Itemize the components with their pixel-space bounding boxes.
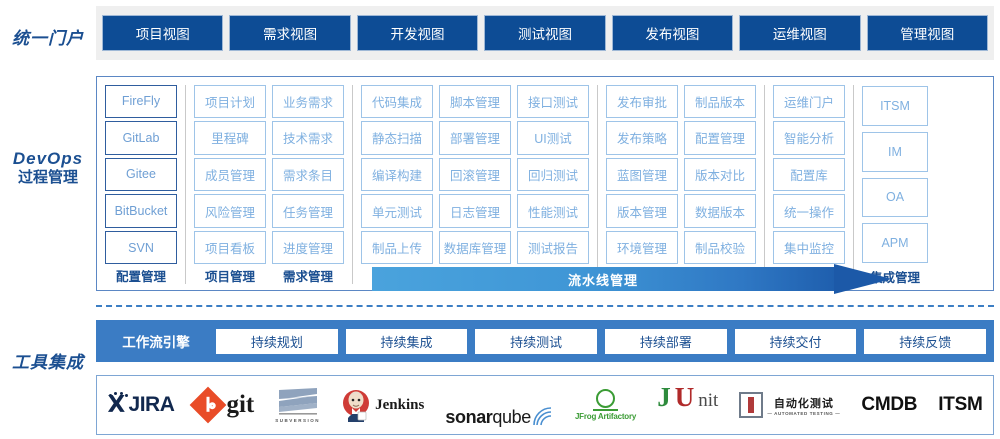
junit-letter-u: U [675, 382, 695, 413]
portal-view-button[interactable]: 发布视图 [612, 15, 733, 51]
section-divider [96, 305, 994, 307]
sonarqube-wave-icon [532, 406, 554, 426]
capability-cell[interactable]: 项目看板 [194, 231, 266, 265]
capability-cell[interactable]: SVN [105, 231, 177, 265]
column-group: ITSMIMOAAPM集成管理 [859, 83, 931, 286]
portal-view-button[interactable]: 需求视图 [229, 15, 350, 51]
capability-cell[interactable]: 项目计划 [194, 85, 266, 119]
capability-cell[interactable]: 回归测试 [517, 158, 589, 192]
jfrog-circle-icon [596, 389, 615, 408]
capability-cell[interactable]: 编译构建 [361, 158, 433, 192]
devops-process-panel: FireFlyGitLabGiteeBitBucketSVN配置管理项目计划里程… [96, 76, 994, 291]
devops-column-0: FireFlyGitLabGiteeBitBucketSVN配置管理 [102, 83, 180, 286]
portal-view-button[interactable]: 运维视图 [739, 15, 860, 51]
itsm-wordmark: ITSM [938, 394, 982, 416]
capability-cell[interactable]: 代码集成 [361, 85, 433, 119]
jenkins-wordmark: Jenkins [375, 397, 424, 414]
rail-label-tools: 工具集成 [0, 352, 96, 373]
devops-column-1: 项目计划里程碑成员管理风险管理项目看板项目管理 [191, 83, 269, 286]
logo-itsm: ITSM [938, 382, 982, 428]
workflow-stage[interactable]: 持续反馈 [864, 329, 986, 354]
pipeline-arrow: 流水线管理 [372, 267, 892, 291]
devops-column-6: 发布审批发布策略蓝图管理版本管理环境管理发布管理 [603, 83, 681, 286]
capability-cell[interactable]: 制品版本 [684, 85, 756, 119]
workflow-stage[interactable]: 持续测试 [475, 329, 597, 354]
portal-view-button[interactable]: 管理视图 [867, 15, 988, 51]
pipeline-arrow-head [834, 264, 892, 294]
column-group-divider [352, 85, 353, 284]
rail-label-tools-text: 工具集成 [12, 353, 84, 372]
rail-label-portal-text: 统一门户 [12, 29, 84, 48]
logo-sonarqube: sonar qube [445, 382, 553, 428]
capability-cell[interactable]: 单元测试 [361, 194, 433, 228]
workflow-engine-label: 工作流引擎 [104, 320, 208, 362]
devops-column-5: 接口测试UI测试回归测试性能测试测试报告CT流水线 [514, 83, 592, 286]
rail-label-devops-main: DevOps [13, 149, 83, 168]
logo-jira: Χ JIRA [108, 382, 175, 428]
capability-cell[interactable]: 日志管理 [439, 194, 511, 228]
capability-cell[interactable]: FireFly [105, 85, 177, 119]
capability-cell[interactable]: 需求条目 [272, 158, 344, 192]
capability-cell[interactable]: 部署管理 [439, 121, 511, 155]
capability-cell[interactable]: 业务需求 [272, 85, 344, 119]
capability-cell[interactable]: Gitee [105, 158, 177, 192]
capability-cell[interactable]: 蓝图管理 [606, 158, 678, 192]
capability-cell[interactable]: 制品校验 [684, 231, 756, 265]
workflow-stage[interactable]: 持续规划 [216, 329, 338, 354]
capability-cell[interactable]: 配置库 [773, 158, 845, 192]
column-group-divider [597, 85, 598, 284]
capability-cell[interactable]: GitLab [105, 121, 177, 155]
capability-cell[interactable]: 智能分析 [773, 121, 845, 155]
logo-jfrog-artifactory: JFrog Artifactory [575, 382, 636, 428]
automated-testing-icon [739, 392, 763, 418]
column-group-divider [853, 85, 854, 284]
capability-cell[interactable]: 任务管理 [272, 194, 344, 228]
tool-logo-row: Χ JIRA git SUBVERSION [96, 375, 994, 435]
jira-icon: Χ [108, 393, 128, 417]
pipeline-arrow-label: 流水线管理 [372, 267, 834, 291]
logo-jenkins: Jenkins [341, 382, 424, 428]
logo-automated-testing: 自动化测试 — AUTOMATED TESTING — [739, 382, 840, 428]
jfrog-bar-icon [593, 409, 618, 411]
cmdb-wordmark: CMDB [861, 394, 917, 416]
git-icon [190, 387, 227, 424]
capability-cell[interactable]: 发布策略 [606, 121, 678, 155]
devops-column-8: 运维门户智能分析配置库统一操作集中监控运维管理 [770, 83, 848, 286]
column-group: 发布审批发布策略蓝图管理版本管理环境管理发布管理制品版本配置管理版本对比数据版本… [603, 83, 759, 286]
workflow-stage[interactable]: 持续集成 [346, 329, 468, 354]
jfrog-wordmark: JFrog Artifactory [575, 412, 636, 421]
rail-label-devops: DevOps 过程管理 [0, 148, 96, 188]
portal-view-button[interactable]: 项目视图 [102, 15, 223, 51]
junit-letters-nit: nit [698, 390, 718, 412]
rail-label-portal: 统一门户 [0, 28, 96, 49]
jenkins-butler-icon [341, 388, 371, 422]
capability-cell[interactable]: 成员管理 [194, 158, 266, 192]
capability-cell[interactable]: BitBucket [105, 194, 177, 228]
automated-testing-en: — AUTOMATED TESTING — [767, 411, 840, 416]
capability-cell[interactable]: 性能测试 [517, 194, 589, 228]
capability-cell[interactable]: 技术需求 [272, 121, 344, 155]
capability-cell[interactable]: 数据版本 [684, 194, 756, 228]
capability-cell[interactable]: 制品上传 [361, 231, 433, 265]
capability-cell[interactable]: IM [862, 132, 928, 172]
capability-cell[interactable]: UI测试 [517, 121, 589, 155]
capability-cell[interactable]: ITSM [862, 86, 928, 126]
capability-cell[interactable]: 里程碑 [194, 121, 266, 155]
column-group: 项目计划里程碑成员管理风险管理项目看板项目管理业务需求技术需求需求条目任务管理进… [191, 83, 347, 286]
column-group: 运维门户智能分析配置库统一操作集中监控运维管理 [770, 83, 848, 286]
jira-wordmark: JIRA [129, 393, 175, 417]
capability-cell[interactable]: OA [862, 178, 928, 218]
devops-column-4: 脚本管理部署管理回滚管理日志管理数据库管理CD流水线 [436, 83, 514, 286]
portal-view-button[interactable]: 开发视图 [357, 15, 478, 51]
capability-cell[interactable]: 环境管理 [606, 231, 678, 265]
capability-cell[interactable]: 测试报告 [517, 231, 589, 265]
capability-cell[interactable]: 发布审批 [606, 85, 678, 119]
devops-column-3: 代码集成静态扫描编译构建单元测试制品上传CI流水线 [358, 83, 436, 286]
capability-cell[interactable]: 统一操作 [773, 194, 845, 228]
git-wordmark: git [226, 391, 254, 419]
devops-column-title: 需求管理 [272, 266, 344, 286]
devops-column-2: 业务需求技术需求需求条目任务管理进度管理需求管理 [269, 83, 347, 286]
capability-cell[interactable]: 配置管理 [684, 121, 756, 155]
capability-cell[interactable]: 静态扫描 [361, 121, 433, 155]
workflow-stage[interactable]: 持续交付 [735, 329, 857, 354]
sonarqube-wordmark-light: qube [492, 407, 530, 428]
workflow-stage-list: 持续规划持续集成持续测试持续部署持续交付持续反馈 [216, 329, 986, 354]
logo-junit: J U nit [657, 382, 718, 428]
portal-view-button[interactable]: 测试视图 [484, 15, 605, 51]
capability-cell[interactable]: 运维门户 [773, 85, 845, 119]
logo-subversion: SUBVERSION [275, 382, 320, 428]
capability-cell[interactable]: 进度管理 [272, 231, 344, 265]
capability-cell[interactable]: 接口测试 [517, 85, 589, 119]
subversion-wordmark: SUBVERSION [275, 418, 320, 423]
capability-cell[interactable]: 回滚管理 [439, 158, 511, 192]
devops-column-title: 配置管理 [105, 266, 177, 286]
capability-cell[interactable]: APM [862, 223, 928, 263]
workflow-engine-bar: 工作流引擎 持续规划持续集成持续测试持续部署持续交付持续反馈 [96, 320, 994, 362]
capability-cell[interactable]: 脚本管理 [439, 85, 511, 119]
devops-column-title: 项目管理 [194, 266, 266, 286]
logo-git: git [195, 382, 254, 428]
workflow-stage[interactable]: 持续部署 [605, 329, 727, 354]
automated-testing-text: 自动化测试 — AUTOMATED TESTING — [767, 395, 840, 416]
jira-dots-icon [109, 392, 127, 399]
capability-cell[interactable]: 版本管理 [606, 194, 678, 228]
subversion-icon [277, 387, 319, 417]
column-group-divider [764, 85, 765, 284]
diagram-canvas: 统一门户 DevOps 过程管理 工具集成 项目视图需求视图开发视图测试视图发布… [0, 0, 1000, 439]
capability-cell[interactable]: 数据库管理 [439, 231, 511, 265]
devops-column-7: 制品版本配置管理版本对比数据版本制品校验制品管理 [681, 83, 759, 286]
unified-portal-bar: 项目视图需求视图开发视图测试视图发布视图运维视图管理视图 [96, 6, 994, 60]
column-group: FireFlyGitLabGiteeBitBucketSVN配置管理 [102, 83, 180, 286]
devops-column-9: ITSMIMOAAPM集成管理 [859, 83, 931, 286]
capability-cell[interactable]: 集中监控 [773, 231, 845, 265]
sonarqube-wordmark-bold: sonar [445, 407, 492, 428]
capability-cell[interactable]: 版本对比 [684, 158, 756, 192]
capability-cell[interactable]: 风险管理 [194, 194, 266, 228]
rail-label-devops-sub: 过程管理 [0, 169, 96, 188]
logo-cmdb: CMDB [861, 382, 917, 428]
column-group-divider [185, 85, 186, 284]
column-group: 代码集成静态扫描编译构建单元测试制品上传CI流水线脚本管理部署管理回滚管理日志管… [358, 83, 592, 286]
automated-testing-cn: 自动化测试 [774, 395, 834, 411]
junit-letter-j: J [657, 382, 671, 413]
